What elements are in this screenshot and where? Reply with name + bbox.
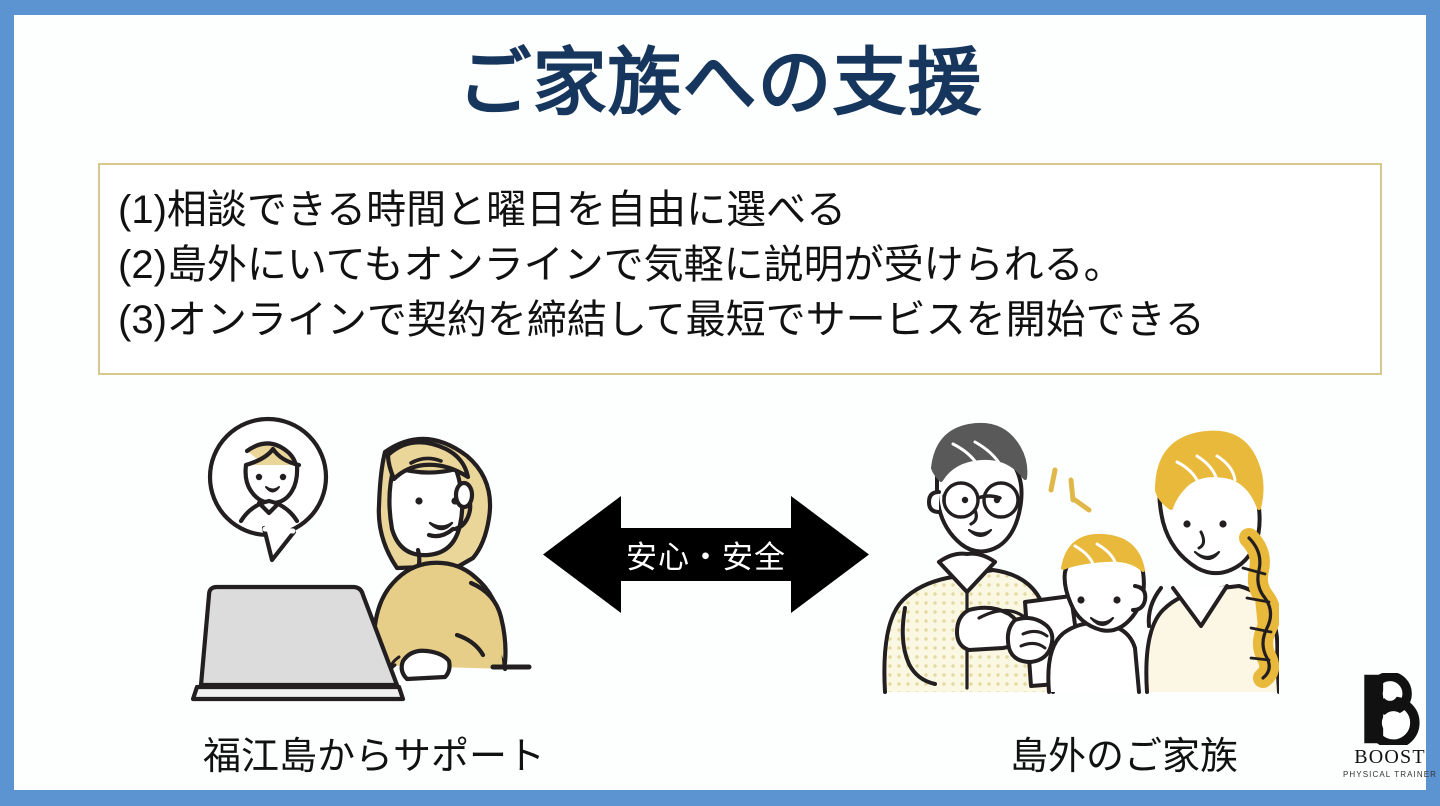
frame-border-bottom (0, 790, 1440, 806)
frame-border-top (0, 0, 1440, 15)
caption-right: 島外のご家族 (944, 725, 1304, 780)
frame-border-left (0, 0, 14, 806)
family-illustration (869, 420, 1279, 705)
benefits-textbox: (1)相談できる時間と曜日を自由に選べる (2)島外にいてもオンラインで気軽に説… (98, 163, 1382, 375)
boost-b-monogram-icon (1359, 673, 1421, 745)
benefit-line-2: (2)島外にいてもオンラインで気軽に説明が受けられる。 (118, 238, 1364, 293)
benefit-line-3: (3)オンラインで契約を締結して最短でサービスを開始できる (118, 293, 1364, 348)
boost-logo: BOOST PHYSICAL TRAINER (1342, 673, 1438, 779)
slide-page: ご家族への支援 (1)相談できる時間と曜日を自由に選べる (2)島外にいてもオン… (14, 15, 1426, 790)
illustration-stage: 安心・安全 (14, 405, 1426, 725)
benefit-line-1: (1)相談できる時間と曜日を自由に選べる (118, 183, 1364, 238)
slide-canvas: ご家族への支援 (1)相談できる時間と曜日を自由に選べる (2)島外にいてもオン… (0, 0, 1440, 806)
two-way-arrow: 安心・安全 (543, 482, 869, 627)
logo-tagline: PHYSICAL TRAINER (1342, 770, 1438, 779)
page-title: ご家族への支援 (14, 43, 1426, 123)
support-staff-illustration (189, 415, 559, 705)
logo-wordmark: BOOST (1342, 746, 1438, 769)
arrow-shape (543, 496, 869, 613)
caption-left: 福江島からサポート (194, 725, 554, 780)
